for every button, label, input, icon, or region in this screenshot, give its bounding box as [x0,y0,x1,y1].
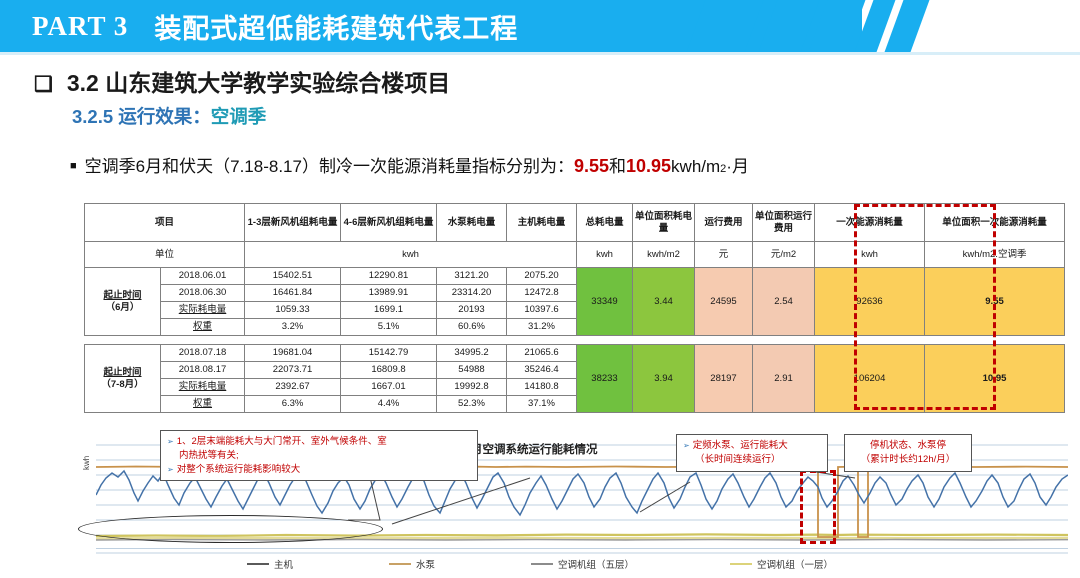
td-value: 54988 [437,362,507,379]
energy-consumption-table: 项目 1-3层新风机组耗电量 4-6层新风机组耗电量 水泵耗电量 主机耗电量 总… [84,203,1065,413]
td-value: 2075.20 [507,268,577,285]
section-heading: ❑ 3.2 山东建筑大学教学实验综合楼项目 [34,64,450,98]
td-value: 3.2% [245,319,341,336]
bullet-unit-a: kwh/m [671,157,720,177]
table-units-row: 单位 kwh kwh kwh/m2 元 元/m2 kwh kwh/m2.空调季 [85,242,1065,268]
legend-label-ahu1: 空调机组（一层） [757,557,833,571]
header-underline [0,52,1080,55]
td-per-area-kwh-1: 3.94 [633,345,695,413]
th-pump: 水泵耗电量 [437,204,507,242]
legend-item-pump: 水泵 [389,557,435,571]
td-value: 13989.91 [341,285,437,302]
slide-header: PART 3 装配式超低能耗建筑代表工程 [0,0,1080,52]
td-per-area-cost-0: 2.54 [753,268,815,336]
td-value: 4.4% [341,396,437,413]
legend-item-host: 主机 [247,557,293,571]
td-value: 19681.04 [245,345,341,362]
table-block-spacer [85,336,1065,345]
legend-swatch-ahu1 [730,563,752,566]
legend-swatch-pump [389,563,411,566]
header-part-label: PART 3 [32,11,128,42]
td-rowname: 权重 [161,396,245,413]
td-value: 12472.8 [507,285,577,302]
td-rowname: 2018.06.01 [161,268,245,285]
block0-label-line2: （6月） [106,302,140,313]
td-value: 15402.51 [245,268,341,285]
td-rowname: 实际耗电量 [161,379,245,396]
td-cost-1: 28197 [695,345,753,413]
header-title-group: PART 3 装配式超低能耗建筑代表工程 [32,4,518,48]
td-per-area-primary-1: 10.95 [925,345,1065,413]
th-total-kwh: 总耗电量 [577,204,633,242]
td-value: 31.2% [507,319,577,336]
td-rowname: 2018.08.17 [161,362,245,379]
td-per-area-primary-0: 9.55 [925,268,1065,336]
callout-pump: ➢定频水泵、运行能耗大 （长时间连续运行） [676,434,828,472]
td-value: 16461.84 [245,285,341,302]
chart-ellipse-highlight [78,515,383,543]
callout-shutdown-line2: （累计时长约12h/月） [861,454,956,465]
td-unit-per-area-kwh: kwh/m2 [633,242,695,268]
bullet-arrow-icon: ➢ [683,441,690,450]
td-units-label: 单位 [85,242,245,268]
block0-label-line1: 起止时间 [103,290,141,301]
chart-baseline [96,548,1068,549]
callout-shutdown-line1: 停机状态、水泵停 [870,440,946,451]
subsection-number: 3.2.5 [72,106,113,127]
bullet-arrow-icon: ➢ [167,437,174,446]
td-block0-label: 起止时间 （6月） [85,268,161,336]
td-value: 1699.1 [341,302,437,319]
legend-swatch-host [247,563,269,566]
th-cost: 运行费用 [695,204,753,242]
th-per-area-primary: 单位面积一次能源消耗量 [925,204,1065,242]
block1-label-line2: （7-8月） [101,379,143,390]
value-summer: 10.95 [626,156,671,177]
td-value: 10397.6 [507,302,577,319]
td-unit-per-area-cost: 元/m2 [753,242,815,268]
th-ahu-4-6: 4-6层新风机组耗电量 [341,204,437,242]
subsection-emphasis: 空调季 [211,106,267,127]
callout-left: ➢1、2层末端能耗大与大门常开、室外气候条件、室 内热扰等有关; ➢对整个系统运… [160,430,478,481]
legend-item-ahu1: 空调机组（一层） [730,557,833,571]
th-ahu-1-3: 1-3层新风机组耗电量 [245,204,341,242]
legend-item-ahu5: 空调机组（五层） [531,557,634,571]
legend-label-host: 主机 [274,557,293,571]
td-unit-cost: 元 [695,242,753,268]
callout-left-line3: 对整个系统运行能耗影响较大 [177,464,301,475]
td-unit-total: kwh [577,242,633,268]
td-total-kwh-0: 33349 [577,268,633,336]
th-project: 项目 [85,204,245,242]
td-primary-energy-1: 106204 [815,345,925,413]
th-per-area-cost: 单位面积运行费用 [753,204,815,242]
block1-label-line1: 起止时间 [103,367,141,378]
td-value: 1667.01 [341,379,437,396]
td-value: 34995.2 [437,345,507,362]
table-row: 起止时间 （7-8月） 2018.07.18 19681.04 15142.79… [85,345,1065,362]
td-value: 16809.8 [341,362,437,379]
td-rowname: 2018.07.18 [161,345,245,362]
header-title-text: 装配式超低能耗建筑代表工程 [154,7,518,46]
callout-shutdown: 停机状态、水泵停 （累计时长约12h/月） [844,434,972,472]
td-total-kwh-1: 38233 [577,345,633,413]
chart-highlight-box [800,470,836,544]
td-rowname: 权重 [161,319,245,336]
td-unit-primary: kwh [815,242,925,268]
td-value: 5.1% [341,319,437,336]
bullet-arrow-icon: ➢ [167,465,174,474]
legend-label-ahu5: 空调机组（五层） [558,557,634,571]
callout-left-line1: 1、2层末端能耗大与大门常开、室外气候条件、室 [177,436,387,447]
td-primary-energy-0: 92636 [815,268,925,336]
th-chiller: 主机耗电量 [507,204,577,242]
td-value: 23314.20 [437,285,507,302]
subsection-heading: 3.2.5 运行效果：空调季 [72,103,266,129]
bullet-unit-b: ·月 [726,152,749,177]
td-value: 22073.71 [245,362,341,379]
td-value: 35246.4 [507,362,577,379]
table-header-row: 项目 1-3层新风机组耗电量 4-6层新风机组耗电量 水泵耗电量 主机耗电量 总… [85,204,1065,242]
td-value: 21065.6 [507,345,577,362]
callout-pump-line1: 定频水泵、运行能耗大 [693,440,788,451]
square-bullet-icon: ❑ [34,74,53,95]
callout-left-line2: 内热扰等有关; [179,450,239,461]
filled-square-bullet-icon: ■ [70,160,77,172]
callout-pump-line2: （长时间连续运行） [695,454,781,465]
td-value: 2392.67 [245,379,341,396]
th-per-area-kwh: 单位面积耗电量 [633,204,695,242]
chart-legend: 主机 水泵 空调机组（五层） 空调机组（一层） [0,557,1080,571]
td-value: 14180.8 [507,379,577,396]
header-stripes [690,0,920,52]
td-value: 3121.20 [437,268,507,285]
table-row: 起止时间 （6月） 2018.06.01 15402.51 12290.81 3… [85,268,1065,285]
key-figure-bullet: ■ 空调季6月和伏天（7.18-8.17）制冷一次能源消耗量指标分别为： 9.5… [70,152,749,177]
bullet-text: 空调季6月和伏天（7.18-8.17）制冷一次能源消耗量指标分别为： [85,152,574,177]
td-unit-kwh-group: kwh [245,242,577,268]
td-value: 19992.8 [437,379,507,396]
td-value: 52.3% [437,396,507,413]
td-unit-per-area-primary: kwh/m2.空调季 [925,242,1065,268]
legend-swatch-ahu5 [531,563,553,566]
bullet-conjunction: 和 [609,152,626,177]
td-cost-0: 24595 [695,268,753,336]
value-june: 9.55 [574,156,609,177]
td-value: 15142.79 [341,345,437,362]
td-value: 60.6% [437,319,507,336]
td-per-area-kwh-0: 3.44 [633,268,695,336]
td-value: 1059.33 [245,302,341,319]
chart-y-axis-label: kwh [82,456,91,470]
subsection-label: 运行效果： [113,106,211,127]
energy-table-wrapper: 项目 1-3层新风机组耗电量 4-6层新风机组耗电量 水泵耗电量 主机耗电量 总… [84,203,996,413]
td-value: 37.1% [507,396,577,413]
td-per-area-cost-1: 2.91 [753,345,815,413]
section-heading-text: 3.2 山东建筑大学教学实验综合楼项目 [67,64,450,98]
td-value: 12290.81 [341,268,437,285]
td-rowname: 实际耗电量 [161,302,245,319]
th-primary-energy: 一次能源消耗量 [815,204,925,242]
td-block1-label: 起止时间 （7-8月） [85,345,161,413]
td-value: 20193 [437,302,507,319]
legend-label-pump: 水泵 [416,557,435,571]
td-rowname: 2018.06.30 [161,285,245,302]
td-value: 6.3% [245,396,341,413]
